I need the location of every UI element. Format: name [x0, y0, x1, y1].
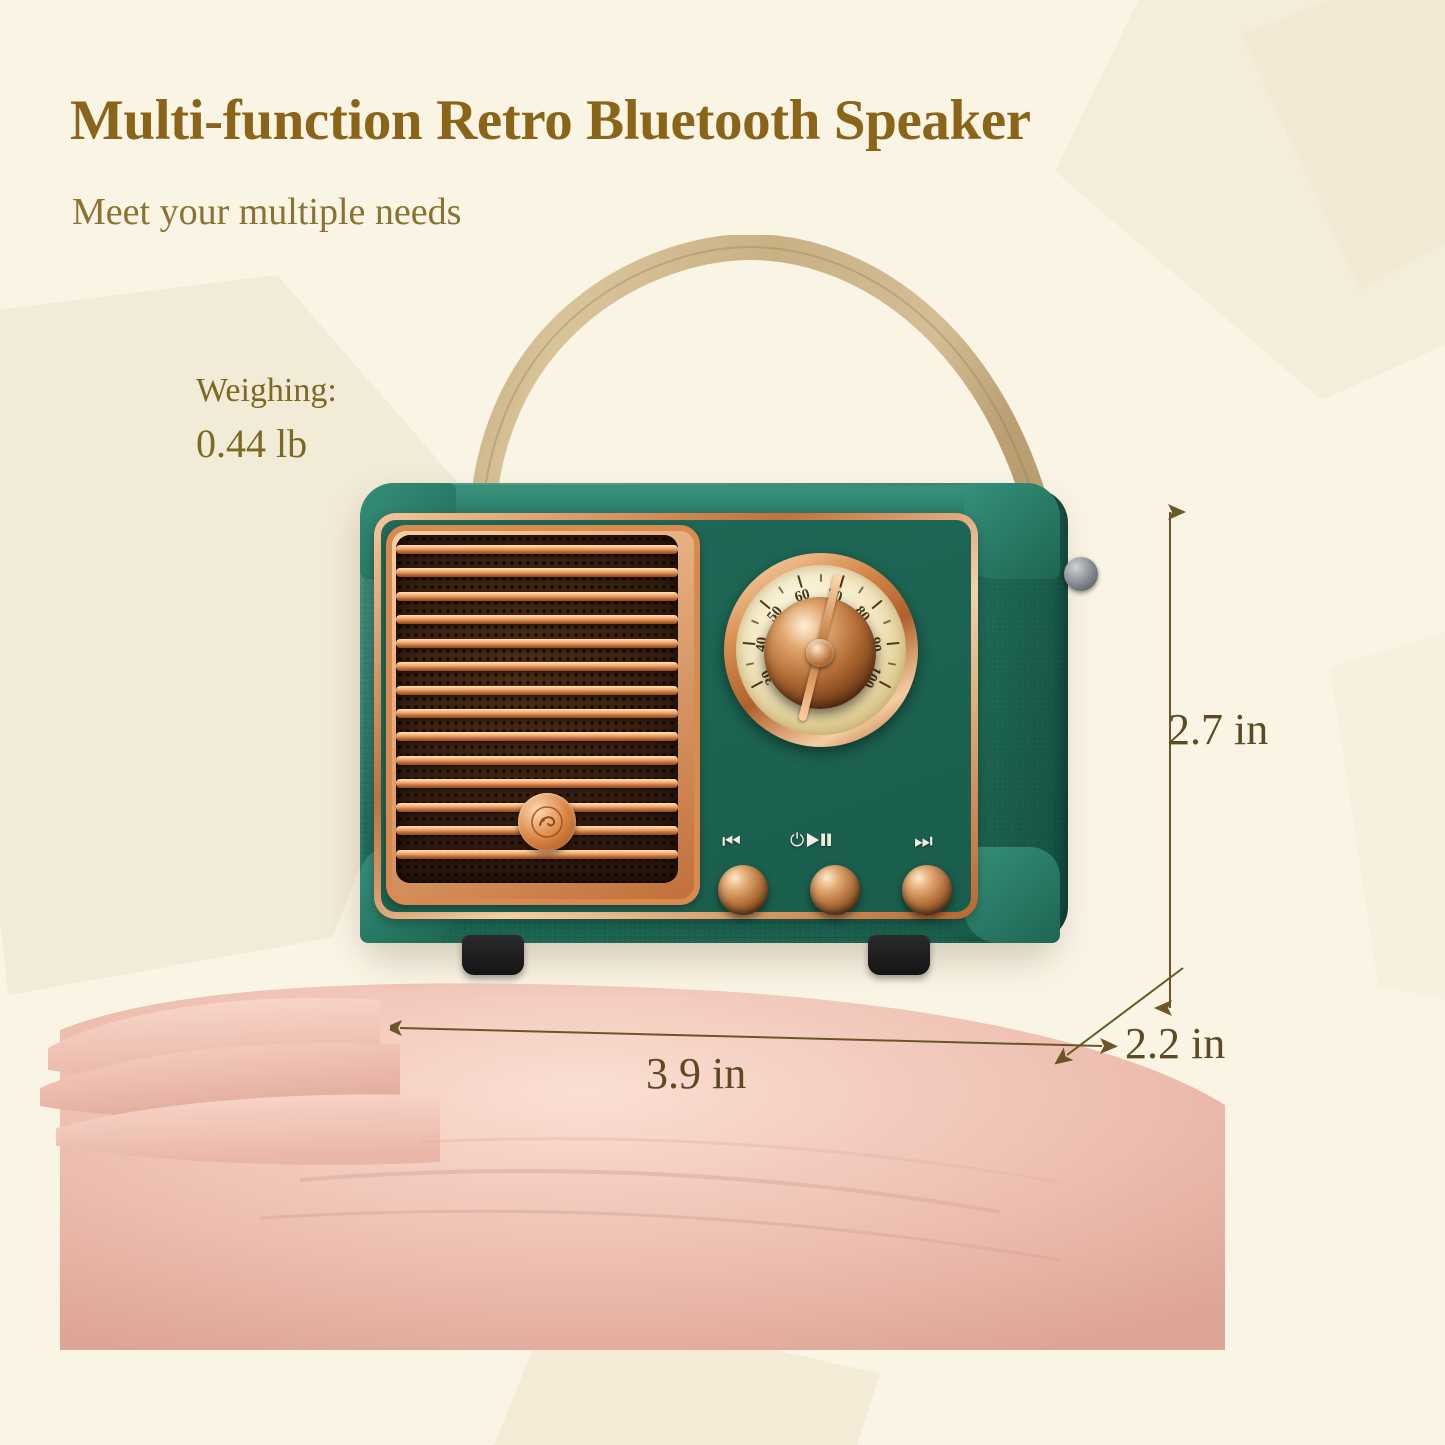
weight-label: Weighing:	[196, 372, 337, 410]
dial-tick	[886, 642, 899, 645]
grille-bar	[396, 545, 678, 554]
grille-bar	[396, 756, 678, 765]
next-track-button[interactable]	[902, 865, 952, 915]
dial-tick-minor	[858, 586, 864, 594]
depth-dimension-label: 2.2 in	[1125, 1018, 1225, 1069]
brand-emblem-icon	[518, 793, 576, 851]
dial-tick	[871, 600, 882, 610]
grille-bar	[396, 779, 678, 788]
dial-tick-minor	[820, 574, 822, 582]
rubber-foot-left	[462, 935, 524, 975]
grille-bar	[396, 732, 678, 741]
previous-track-button[interactable]	[718, 865, 768, 915]
grille-bar	[396, 615, 678, 624]
power-play-pause-button[interactable]	[810, 865, 860, 915]
skip-previous-icon: ⏮	[722, 831, 742, 852]
dial-tick	[797, 575, 803, 588]
weight-value: 0.44 lb	[196, 420, 307, 467]
handle-rivet	[1064, 557, 1098, 591]
dial-tick-minor	[883, 620, 891, 625]
background-polygon-top-right-2	[1240, 0, 1445, 290]
bluetooth-speaker: 30405060708090100 ⏮ ⏻▶❙❙ ⏭	[350, 235, 1090, 1010]
background-polygon-top-right	[1055, 0, 1445, 400]
width-dimension-arrow	[390, 1010, 1130, 1060]
tuning-knob-center	[806, 639, 834, 667]
power-play-pause-icon: ⏻▶❙❙	[790, 831, 833, 849]
corner-cap-bottom-right	[964, 847, 1060, 943]
product-marketing-image: Multi-function Retro Bluetooth Speaker M…	[0, 0, 1445, 1445]
corner-cap-top-right	[964, 483, 1060, 579]
skip-next-icon: ⏭	[914, 831, 934, 852]
dial-tick-minor	[888, 662, 896, 666]
background-polygon-right	[1330, 600, 1445, 1020]
rubber-foot-right	[868, 935, 930, 975]
dial-tick	[878, 680, 890, 688]
background-polygon-bottom	[460, 1300, 880, 1445]
grille-bar	[396, 686, 678, 695]
grille-bar	[396, 850, 678, 859]
dial-tick-minor	[746, 662, 754, 666]
height-dimension-arrow	[1140, 500, 1200, 1020]
grille-bar	[396, 639, 678, 648]
grille-bar	[396, 662, 678, 671]
page-title: Multi-function Retro Bluetooth Speaker	[70, 88, 1031, 153]
grille-bar	[396, 568, 678, 577]
page-subtitle: Meet your multiple needs	[72, 190, 461, 234]
width-dimension-label: 3.9 in	[646, 1048, 746, 1099]
height-dimension-label: 2.7 in	[1168, 704, 1268, 755]
grille-bar	[396, 592, 678, 601]
grille-bar	[396, 709, 678, 718]
dial-tick-minor	[778, 586, 784, 594]
dial-tick-minor	[750, 620, 758, 625]
